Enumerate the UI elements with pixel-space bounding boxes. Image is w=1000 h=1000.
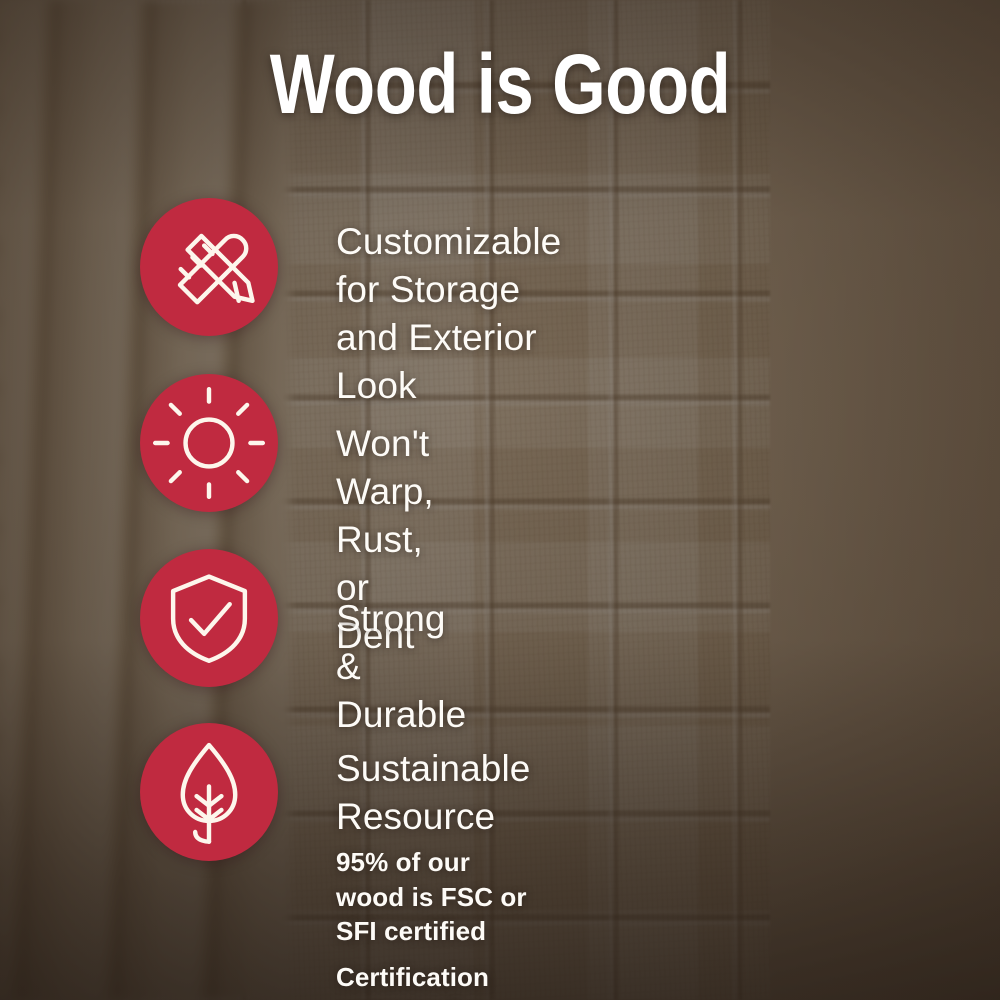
- feature-badge-3: [140, 549, 278, 687]
- feature-headline-1: Customizable for Storage and Exterior Lo…: [336, 218, 561, 410]
- feature-text-1: Customizable for Storage and Exterior Lo…: [336, 218, 561, 410]
- shield-check-icon: [140, 549, 278, 687]
- content-layer: Wood is Good: [0, 0, 1000, 1000]
- ruler-pencil-icon: [140, 198, 278, 336]
- feature-list: Customizable for Storage and Exterior Lo…: [0, 0, 1000, 1000]
- feature-headline-4: Sustainable Resource: [336, 745, 530, 841]
- feature-badge-1: [140, 198, 278, 336]
- feature-subline-4-1: 95% of our wood is FSC or SFI certified: [336, 845, 530, 948]
- feature-text-3: Strong & Durable: [336, 595, 466, 739]
- feature-badge-2: [140, 374, 278, 512]
- leaf-icon: [140, 723, 278, 861]
- infographic-canvas: Wood is Good: [0, 0, 1000, 1000]
- feature-text-4: Sustainable Resource 95% of our wood is …: [336, 745, 530, 1000]
- feature-badge-4: [140, 723, 278, 861]
- feature-headline-3: Strong & Durable: [336, 595, 466, 739]
- sun-icon: [140, 374, 278, 512]
- feature-subline-4-2: Certification ensures the timber comes f…: [336, 960, 530, 1000]
